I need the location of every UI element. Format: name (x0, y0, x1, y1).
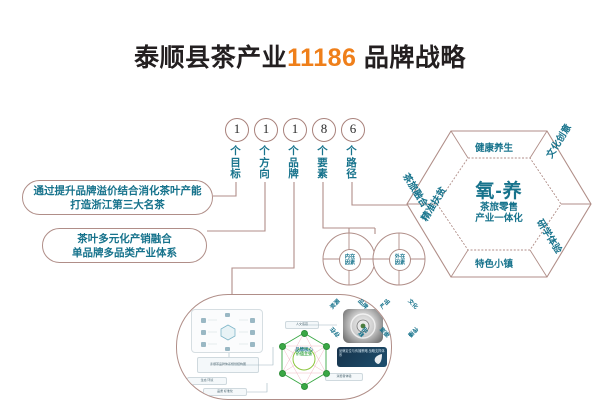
number-circle-4[interactable]: 6 (341, 118, 365, 142)
hexagon-center-sub1: 茶旅零售 (480, 202, 518, 213)
direction-box[interactable]: 茶叶多元化产销融合 单品牌多品类产业体系 (42, 228, 207, 263)
hexagon-center-sub2: 产业一体化 (475, 213, 523, 224)
number-circle-0[interactable]: 1 (225, 118, 249, 142)
number-circle-2[interactable]: 1 (283, 118, 307, 142)
page-title-prefix: 泰顺县茶产业 (134, 44, 287, 72)
wheel-internal-hub: 内在 因素 (339, 249, 361, 271)
page-title-suffix: 品牌战略 (356, 44, 465, 72)
number-label-1: 个方向 (258, 146, 271, 181)
direction-box-line1: 茶叶多元化产销融合 (72, 232, 177, 246)
hexagon-center: 氧-养 茶旅零售 产业一体化 (456, 170, 542, 234)
wheel-external-hub: 外在 因素 (389, 249, 411, 271)
hexagon-center-title: 氧-养 (475, 181, 522, 202)
wheel-internal-factors[interactable]: 资源 品牌 品类 存在 内在 因素 (322, 232, 376, 286)
poster-canvas: 泰顺县茶产业11186 品牌战略 1 个目标 1 个方向 1 个品牌 8 个要素… (0, 0, 600, 412)
goal-box-line2: 打造浙江第三大名茶 (34, 198, 202, 212)
direction-box-line2: 单品牌多品类产业体系 (72, 246, 177, 260)
hexagon-label-top: 健康养生 (475, 140, 513, 154)
number-label-3: 个要素 (316, 146, 329, 181)
hexagon-cluster[interactable]: 氧-养 茶旅零售 产业一体化 健康养生 特色小镇 茶旅融合 精准扶贫 文化创意 … (404, 128, 594, 280)
goal-box[interactable]: 通过提升品牌溢价结合消化茶叶产能 打造浙江第三大名茶 (22, 180, 213, 215)
number-label-2: 个品牌 (287, 146, 300, 181)
page-title: 泰顺县茶产业11186 品牌战略 (0, 38, 600, 74)
number-label-0: 个目标 (229, 146, 242, 181)
page-title-number: 11186 (287, 44, 356, 72)
number-circle-3[interactable]: 8 (312, 118, 336, 142)
number-label-4: 个路径 (345, 146, 358, 181)
hexagon-label-bottom: 特色小镇 (475, 256, 513, 270)
number-circle-1[interactable]: 1 (254, 118, 278, 142)
goal-box-line1: 通过提升品牌溢价结合消化茶叶产能 (34, 184, 202, 198)
